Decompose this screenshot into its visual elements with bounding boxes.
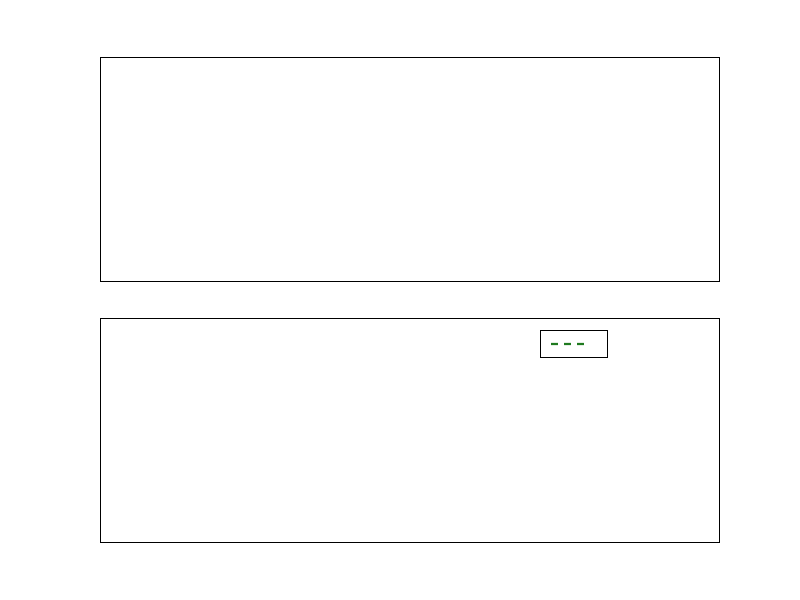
legend xyxy=(540,330,608,358)
figure-canvas xyxy=(0,0,800,600)
cumulative-plot xyxy=(101,319,719,542)
histogram-plot xyxy=(101,58,719,281)
bottom-panel-axes xyxy=(100,318,720,543)
top-panel-axes xyxy=(100,57,720,282)
maglimit-dashed-line-icon xyxy=(549,337,587,351)
figure-title xyxy=(100,31,720,53)
